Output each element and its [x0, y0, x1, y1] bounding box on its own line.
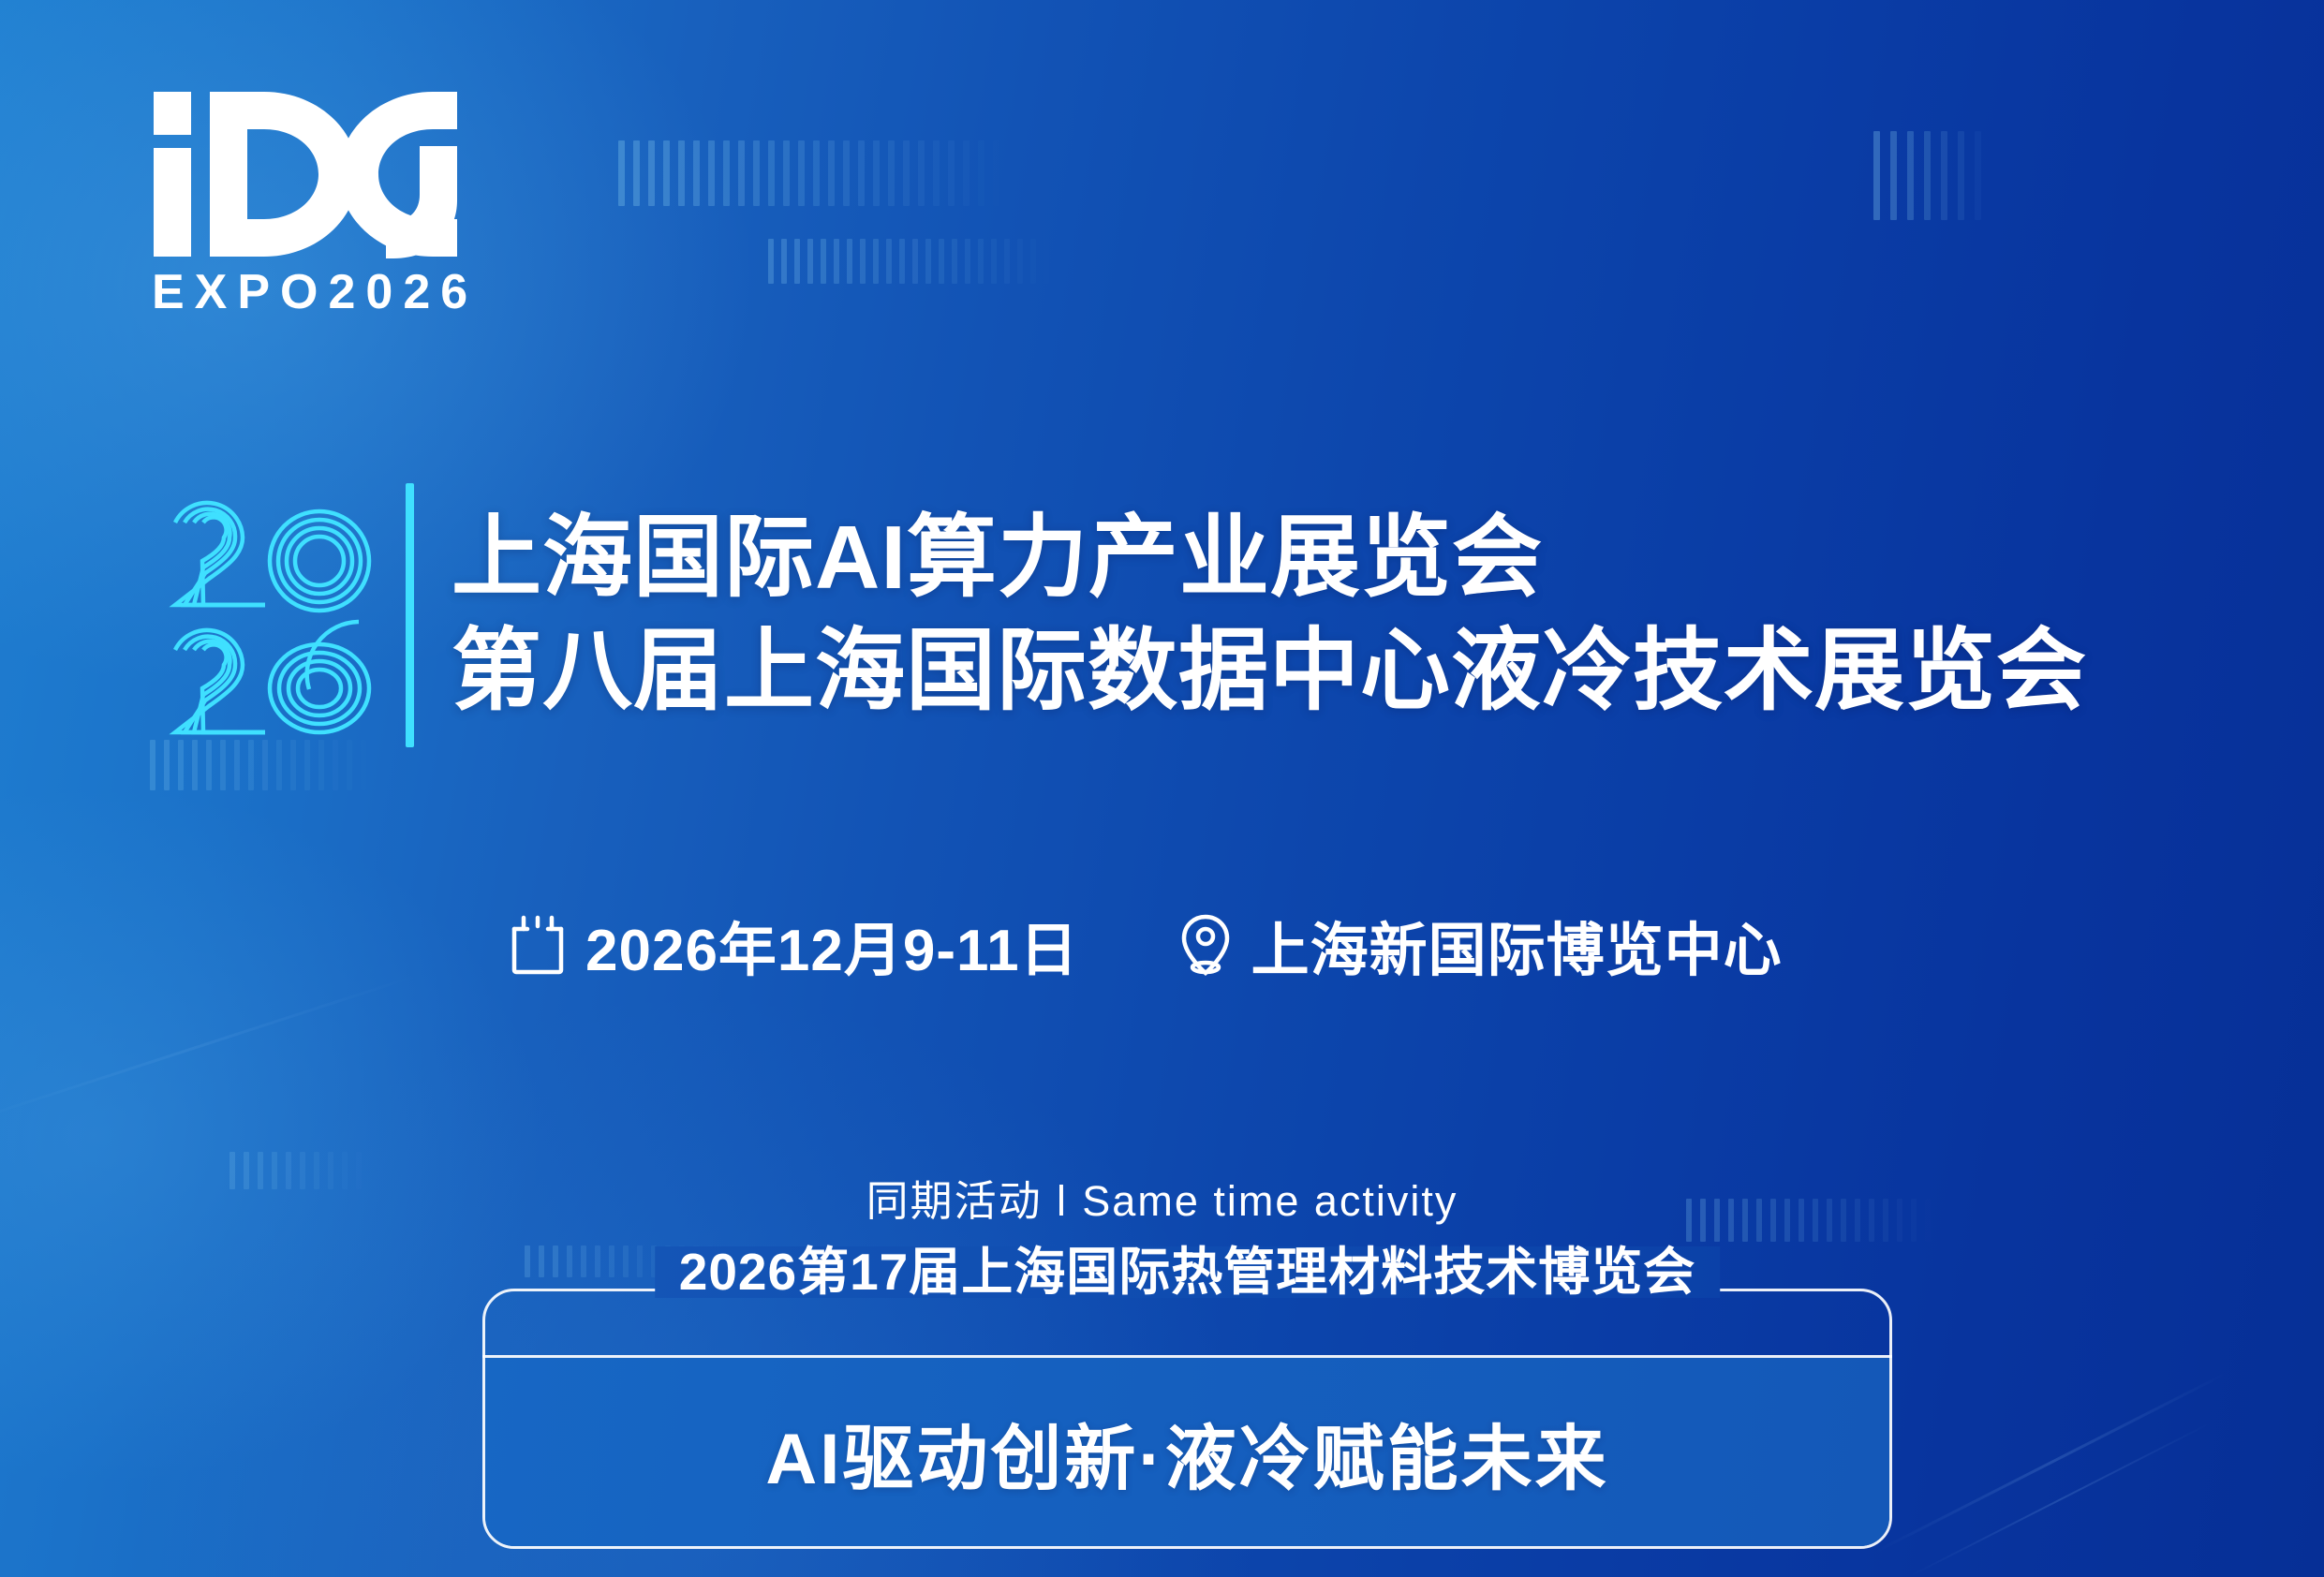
bar-pattern-decoration [768, 239, 1057, 284]
headline-block: 上海国际AI算力产业展览会 第八届上海国际数据中心液冷技术展览会 [164, 479, 2087, 751]
title-line-1: 上海国际AI算力产业展览会 [451, 502, 2087, 615]
event-venue-text: 上海新国际博览中心 [1251, 903, 1783, 987]
cyan-divider-bar [406, 483, 414, 747]
brand-logo: EXPO2026 [152, 90, 480, 317]
poster-canvas: EXPO2026 [0, 0, 2324, 1577]
event-slogan: AI驱动创新·液冷赋能未来 [765, 1401, 1608, 1504]
light-streak-decoration [1910, 1422, 2212, 1576]
same-time-activity-label: 同期活动 ǀ Same time activity [0, 1167, 2324, 1228]
bar-pattern-decoration [618, 140, 1008, 206]
year-2026-outline-mark [164, 479, 379, 751]
event-venue: 上海新国际博览中心 [1180, 903, 1783, 987]
concurrent-event-box: 2026第17届上海国际热管理材料技术博览会 AI驱动创新·液冷赋能未来 [482, 1289, 1892, 1549]
event-date-text: 2026年12月9-11日 [585, 903, 1079, 987]
title-group: 上海国际AI算力产业展览会 第八届上海国际数据中心液冷技术展览会 [451, 502, 2087, 729]
light-streak-decoration [1875, 1372, 2228, 1553]
calendar-icon [511, 914, 565, 976]
light-streak-decoration [0, 974, 420, 1127]
idc-logo-mark [152, 90, 480, 258]
event-meta-row: 2026年12月9-11日 上海新国际博览中心 [511, 903, 1783, 987]
title-line-2: 第八届上海国际数据中心液冷技术展览会 [451, 615, 2087, 729]
bar-pattern-decoration [1873, 131, 1991, 220]
event-date: 2026年12月9-11日 [511, 903, 1079, 987]
concurrent-event-title: 2026第17届上海国际热管理材料技术博览会 [655, 1246, 1721, 1298]
slogan-panel: AI驱动创新·液冷赋能未来 [485, 1358, 1889, 1546]
location-pin-icon [1180, 913, 1231, 977]
brand-wordmark: EXPO2026 [152, 268, 480, 317]
